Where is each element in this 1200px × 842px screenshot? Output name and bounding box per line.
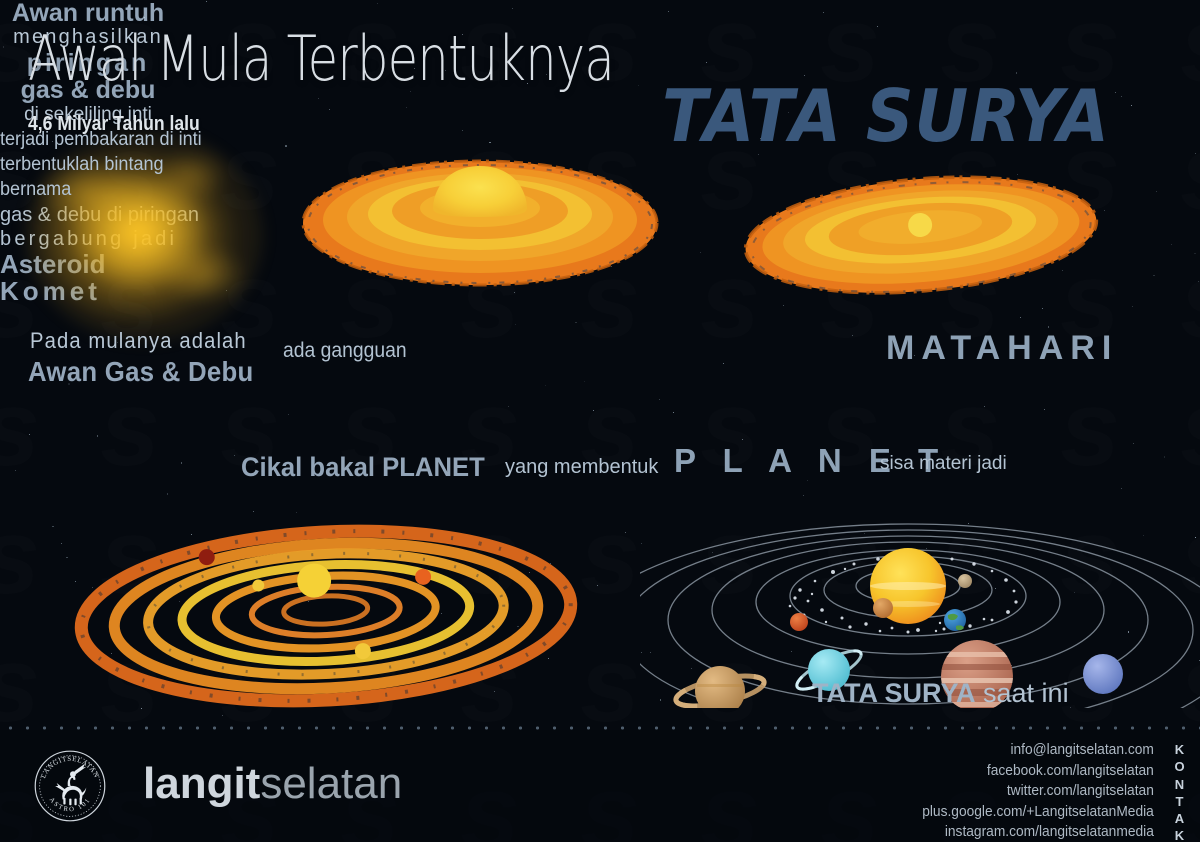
proto-solar-system-illustration bbox=[70, 520, 582, 712]
langitselatan-logo-seal: LANGITSELATAN ASTRO 101 bbox=[33, 749, 107, 823]
step7-cikal-bakal-planet: Cikal bakal PLANET bbox=[241, 452, 485, 483]
contact-facebook[interactable]: facebook.com/langitselatan bbox=[922, 761, 1154, 782]
contact-googleplus[interactable]: plus.google.com/+LangitselatanMedia bbox=[922, 802, 1154, 823]
caption-bold-part: TATA SURYA bbox=[812, 678, 976, 708]
brand-light: selatan bbox=[260, 759, 402, 808]
logo-arc-top-text: LANGITSELATAN bbox=[40, 756, 100, 780]
logo-centaur-figure bbox=[55, 764, 86, 805]
contact-instagram[interactable]: instagram.com/langitselatanmedia bbox=[922, 822, 1154, 842]
protoplanetary-disk-2-illustration bbox=[742, 172, 1100, 298]
step1-line2: Awan Gas & Debu bbox=[28, 356, 254, 388]
step4-block: terjadi pembakaran di inti terbentuklah … bbox=[0, 127, 250, 203]
contact-twitter[interactable]: twitter.com/langitselatan bbox=[922, 781, 1154, 802]
brand-wordmark: langitselatan bbox=[143, 762, 402, 806]
brand-bold: langit bbox=[143, 759, 260, 808]
step5-matahari: MATAHARI bbox=[886, 329, 1118, 368]
headline-tata-surya: TATA SURYA bbox=[662, 74, 1110, 158]
step1-line1: Pada mulanya adalah bbox=[30, 328, 247, 354]
step2-label: ada gangguan bbox=[283, 339, 407, 363]
step4-line1: terjadi pembakaran di inti bbox=[0, 127, 238, 152]
caption-tata-surya-saat-ini: TATA SURYA saat ini bbox=[812, 678, 1069, 709]
contact-email[interactable]: info@langitselatan.com bbox=[922, 740, 1154, 761]
step10-label: sisa materi jadi bbox=[880, 453, 1007, 475]
caption-light-part: saat ini bbox=[976, 678, 1069, 708]
protoplanetary-disk-1-illustration bbox=[300, 140, 660, 305]
step8-label: yang membentuk bbox=[505, 456, 658, 479]
step4-line2: terbentuklah bintang bernama bbox=[0, 152, 238, 203]
kontak-vertical-label: KONTAK bbox=[1172, 741, 1188, 842]
outer-planets-illustration bbox=[640, 498, 1200, 708]
svg-text:LANGITSELATAN: LANGITSELATAN bbox=[40, 756, 100, 780]
infographic-poster: ssssssssssssssssssssssssssssssssssssssss… bbox=[0, 0, 1200, 842]
footer-divider bbox=[0, 726, 1200, 730]
contact-list: info@langitselatan.com facebook.com/lang… bbox=[910, 740, 1154, 842]
page-title: Awal Mula Terbentuknya bbox=[28, 22, 614, 95]
planet-neptune-2 bbox=[1083, 654, 1123, 694]
